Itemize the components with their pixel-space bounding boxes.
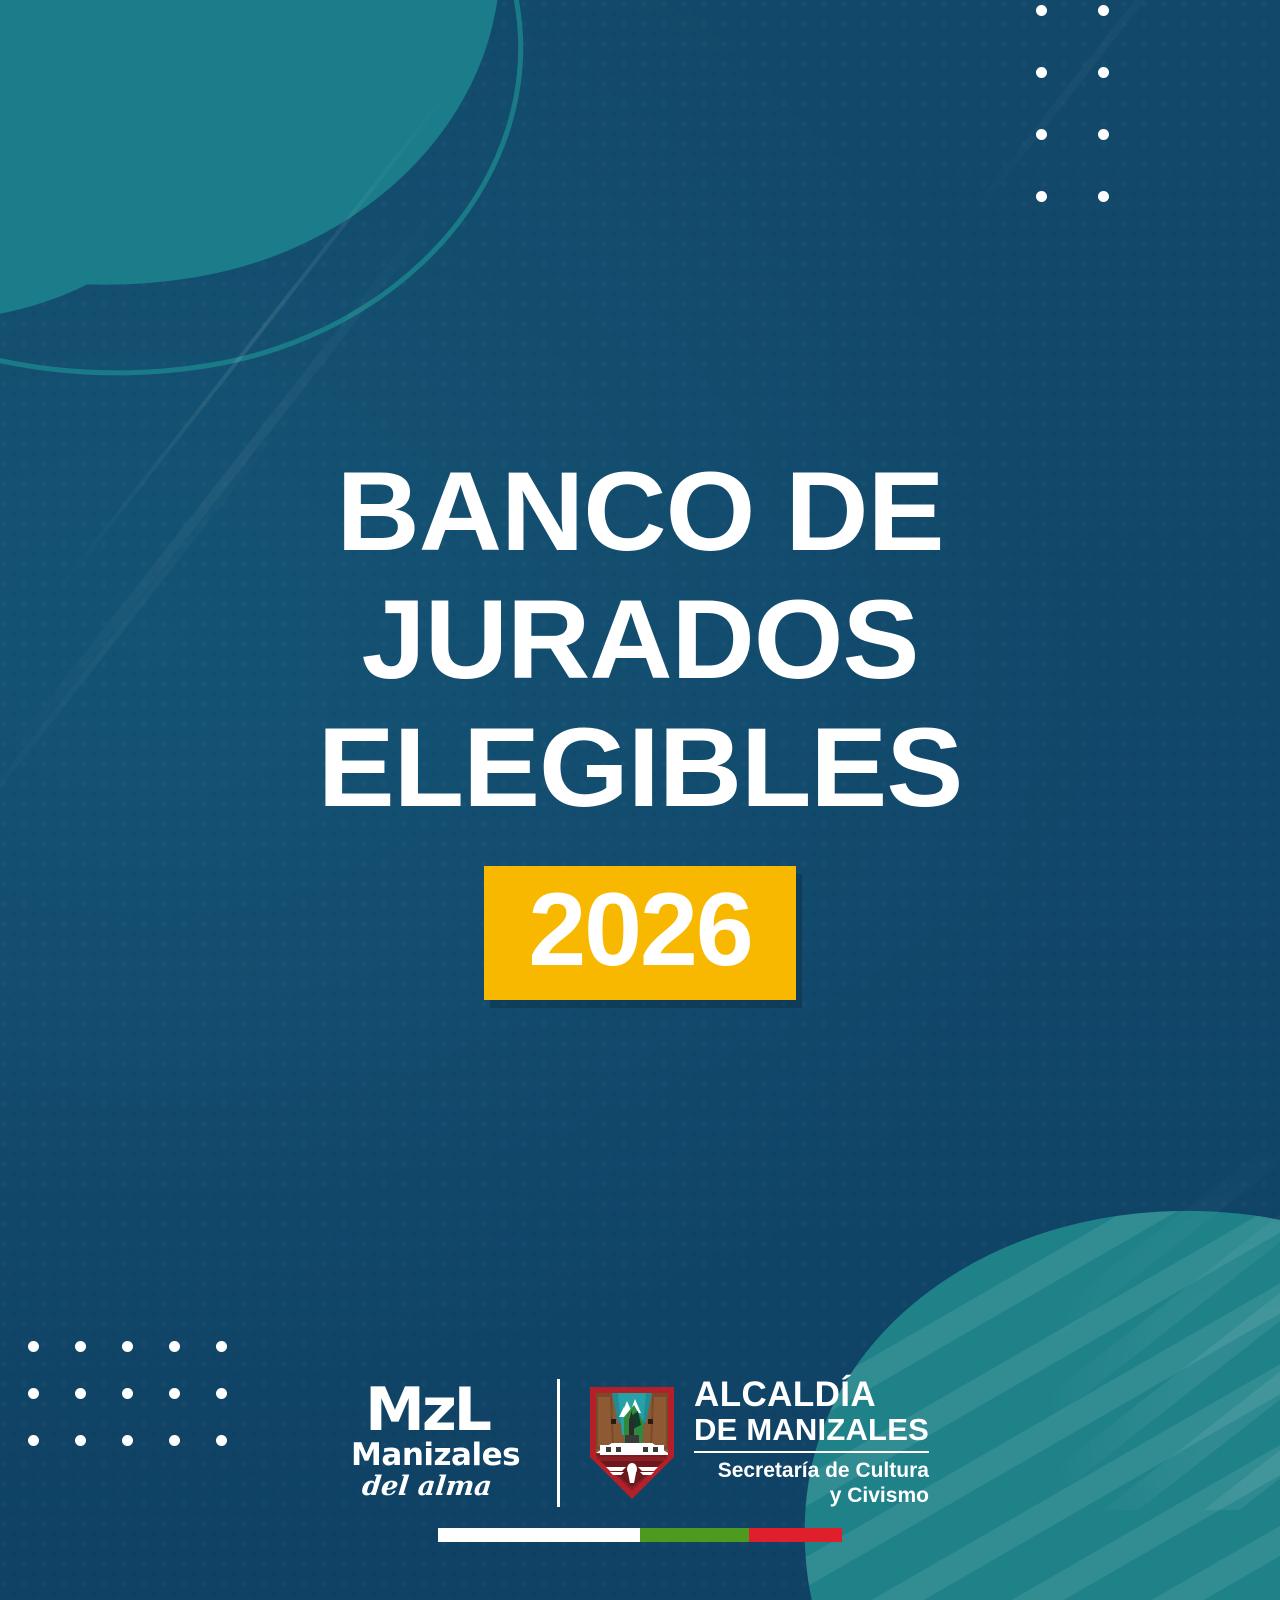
- dot-grid-top-right: [1036, 5, 1160, 253]
- poster-headline: BANCO DE JURADOS ELEGIBLES: [0, 448, 1280, 832]
- dot: [28, 1341, 39, 1352]
- headline-line-2: JURADOS: [0, 576, 1280, 704]
- alcaldia-text-block: ALCALDÍA DE MANIZALES Secretaría de Cult…: [694, 1377, 929, 1508]
- dot: [1098, 129, 1109, 140]
- dot: [75, 1341, 86, 1352]
- dot: [1036, 67, 1047, 78]
- dot: [122, 1341, 133, 1352]
- dot: [169, 1341, 180, 1352]
- dot: [216, 1341, 227, 1352]
- mzl-city-name: Manizales: [351, 1439, 503, 1471]
- mzl-tagline: del alma: [349, 1472, 504, 1502]
- alcaldia-line-1: ALCALDÍA: [694, 1377, 929, 1413]
- year-badge: 2026: [484, 866, 795, 1000]
- manizales-coat-of-arms-shield: [586, 1383, 678, 1503]
- secretaria-line-1: Secretaría de Cultura: [694, 1458, 929, 1483]
- year-badge-wrapper: 2026: [0, 866, 1280, 1000]
- dot: [1098, 5, 1109, 16]
- dot: [1036, 5, 1047, 16]
- dot: [1036, 129, 1047, 140]
- mzl-acronym: MzL: [351, 1383, 503, 1437]
- alcaldia-line-2: DE MANIZALES: [694, 1413, 929, 1447]
- footer-logos: MzL Manizales del alma: [0, 1377, 1280, 1508]
- manizales-city-logo: MzL Manizales del alma: [351, 1383, 531, 1502]
- headline-line-3: ELEGIBLES: [0, 704, 1280, 832]
- poster-canvas: BANCO DE JURADOS ELEGIBLES 2026 MzL Mani…: [0, 0, 1280, 1600]
- tricolor-bar: [438, 1528, 842, 1542]
- tricolor-white: [438, 1528, 640, 1542]
- year-value: 2026: [528, 874, 751, 986]
- dot: [1036, 191, 1047, 202]
- dot: [1098, 67, 1109, 78]
- tricolor-red: [749, 1528, 842, 1542]
- tricolor-green: [640, 1528, 749, 1542]
- alcaldia-logo-group: ALCALDÍA DE MANIZALES Secretaría de Cult…: [586, 1377, 929, 1508]
- logo-divider: [557, 1379, 560, 1507]
- alcaldia-rule: [694, 1451, 929, 1453]
- secretaria-line-2: y Civismo: [694, 1483, 929, 1508]
- headline-line-1: BANCO DE: [0, 448, 1280, 576]
- dot: [1098, 191, 1109, 202]
